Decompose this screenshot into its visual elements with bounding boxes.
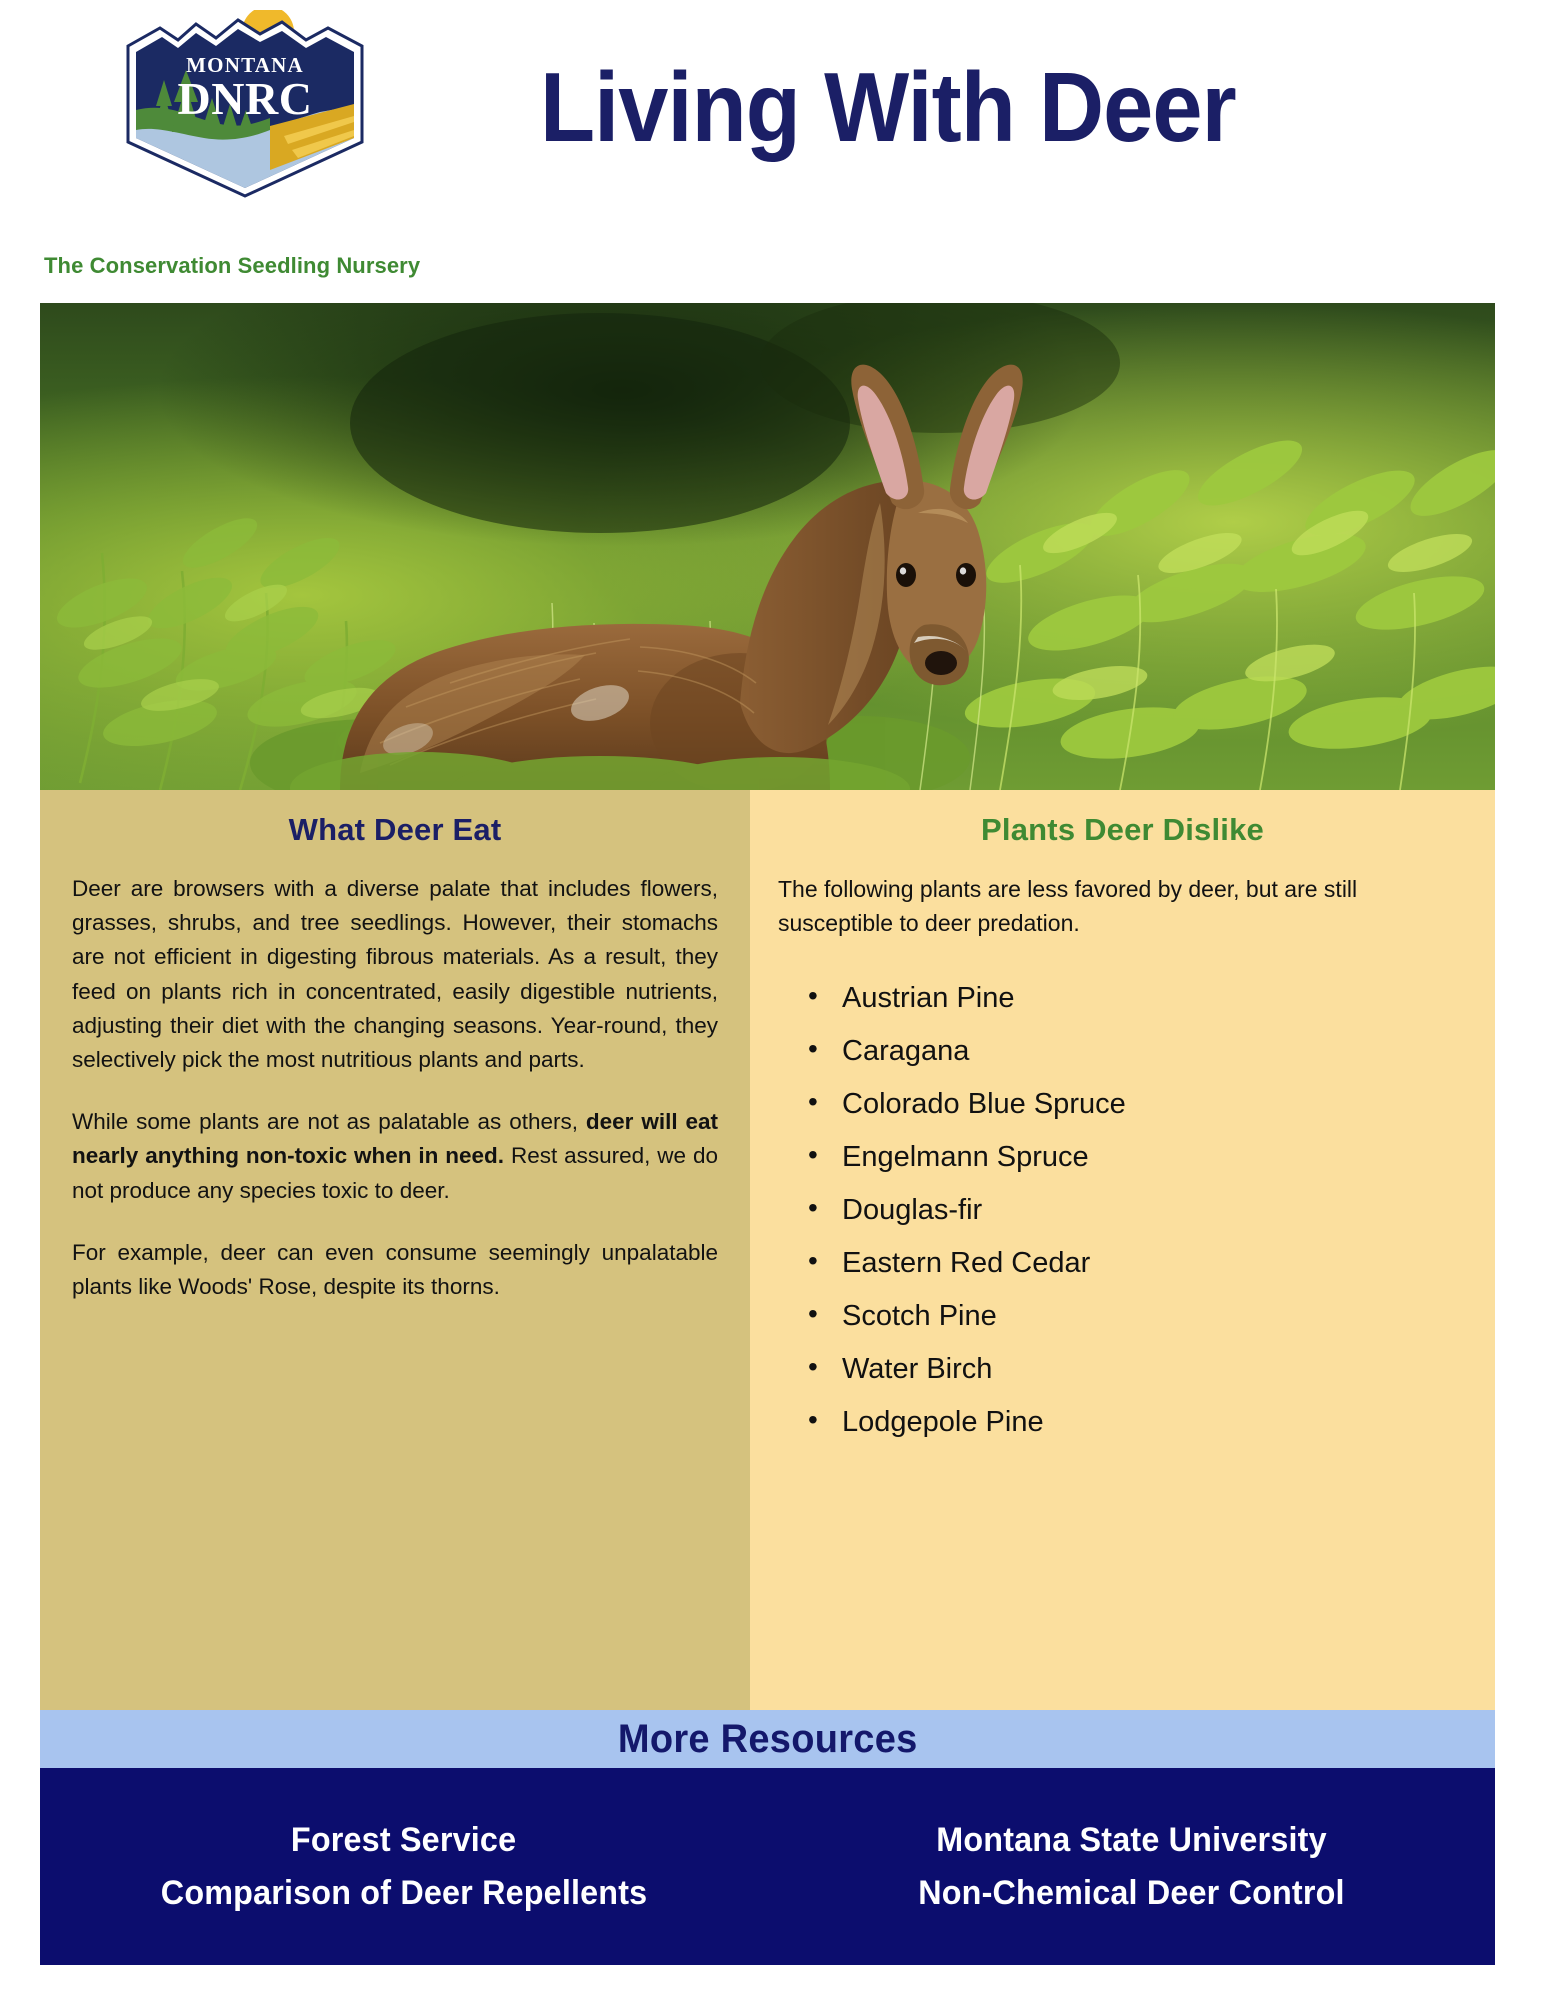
resource-source: Montana State University xyxy=(936,1814,1326,1867)
content-columns: What Deer Eat Deer are browsers with a d… xyxy=(40,790,1495,1710)
what-deer-eat-heading: What Deer Eat xyxy=(72,812,718,848)
flyer-page: MONTANA DNRC Living With Deer The Conser… xyxy=(0,0,1545,2000)
page-header: MONTANA DNRC Living With Deer The Conser… xyxy=(0,0,1545,300)
page-title: Living With Deer xyxy=(540,58,1236,156)
montana-dnrc-logo: MONTANA DNRC xyxy=(120,10,370,200)
list-item: Colorado Blue Spruce xyxy=(802,1090,1467,1119)
paragraph-example: For example, deer can even consume seemi… xyxy=(72,1236,718,1304)
paragraph-diet: Deer are browsers with a diverse palate … xyxy=(72,872,718,1077)
list-item: Engelmann Spruce xyxy=(802,1143,1467,1172)
nursery-tagline: The Conservation Seedling Nursery xyxy=(44,253,420,279)
resource-link-forest-service[interactable]: Forest Service Comparison of Deer Repell… xyxy=(40,1768,768,1965)
deer-photo xyxy=(40,303,1495,790)
logo-dnrc-text: DNRC xyxy=(178,73,313,124)
plants-deer-dislike-heading: Plants Deer Dislike xyxy=(778,812,1467,848)
list-item: Lodgepole Pine xyxy=(802,1408,1467,1437)
list-item: Eastern Red Cedar xyxy=(802,1249,1467,1278)
more-resources-title: More Resources xyxy=(618,1717,918,1762)
paragraph-palatability-pre: While some plants are not as palatable a… xyxy=(72,1109,586,1134)
resource-link-msu[interactable]: Montana State University Non-Chemical De… xyxy=(768,1768,1496,1965)
list-item: Douglas-fir xyxy=(802,1196,1467,1225)
more-resources-bar: More Resources xyxy=(40,1710,1495,1768)
list-item: Scotch Pine xyxy=(802,1302,1467,1331)
resource-title: Comparison of Deer Repellents xyxy=(160,1867,647,1920)
list-item: Caragana xyxy=(802,1037,1467,1066)
resource-source: Forest Service xyxy=(291,1814,516,1867)
resource-title: Non-Chemical Deer Control xyxy=(918,1867,1345,1920)
plant-list: Austrian Pine Caragana Colorado Blue Spr… xyxy=(802,984,1467,1437)
resource-links-bar: Forest Service Comparison of Deer Repell… xyxy=(40,1768,1495,1965)
plants-intro-text: The following plants are less favored by… xyxy=(778,872,1467,940)
paragraph-palatability: While some plants are not as palatable a… xyxy=(72,1105,718,1208)
plants-deer-dislike-section: Plants Deer Dislike The following plants… xyxy=(750,790,1495,1710)
list-item: Water Birch xyxy=(802,1355,1467,1384)
list-item: Austrian Pine xyxy=(802,984,1467,1013)
what-deer-eat-section: What Deer Eat Deer are browsers with a d… xyxy=(40,790,750,1710)
